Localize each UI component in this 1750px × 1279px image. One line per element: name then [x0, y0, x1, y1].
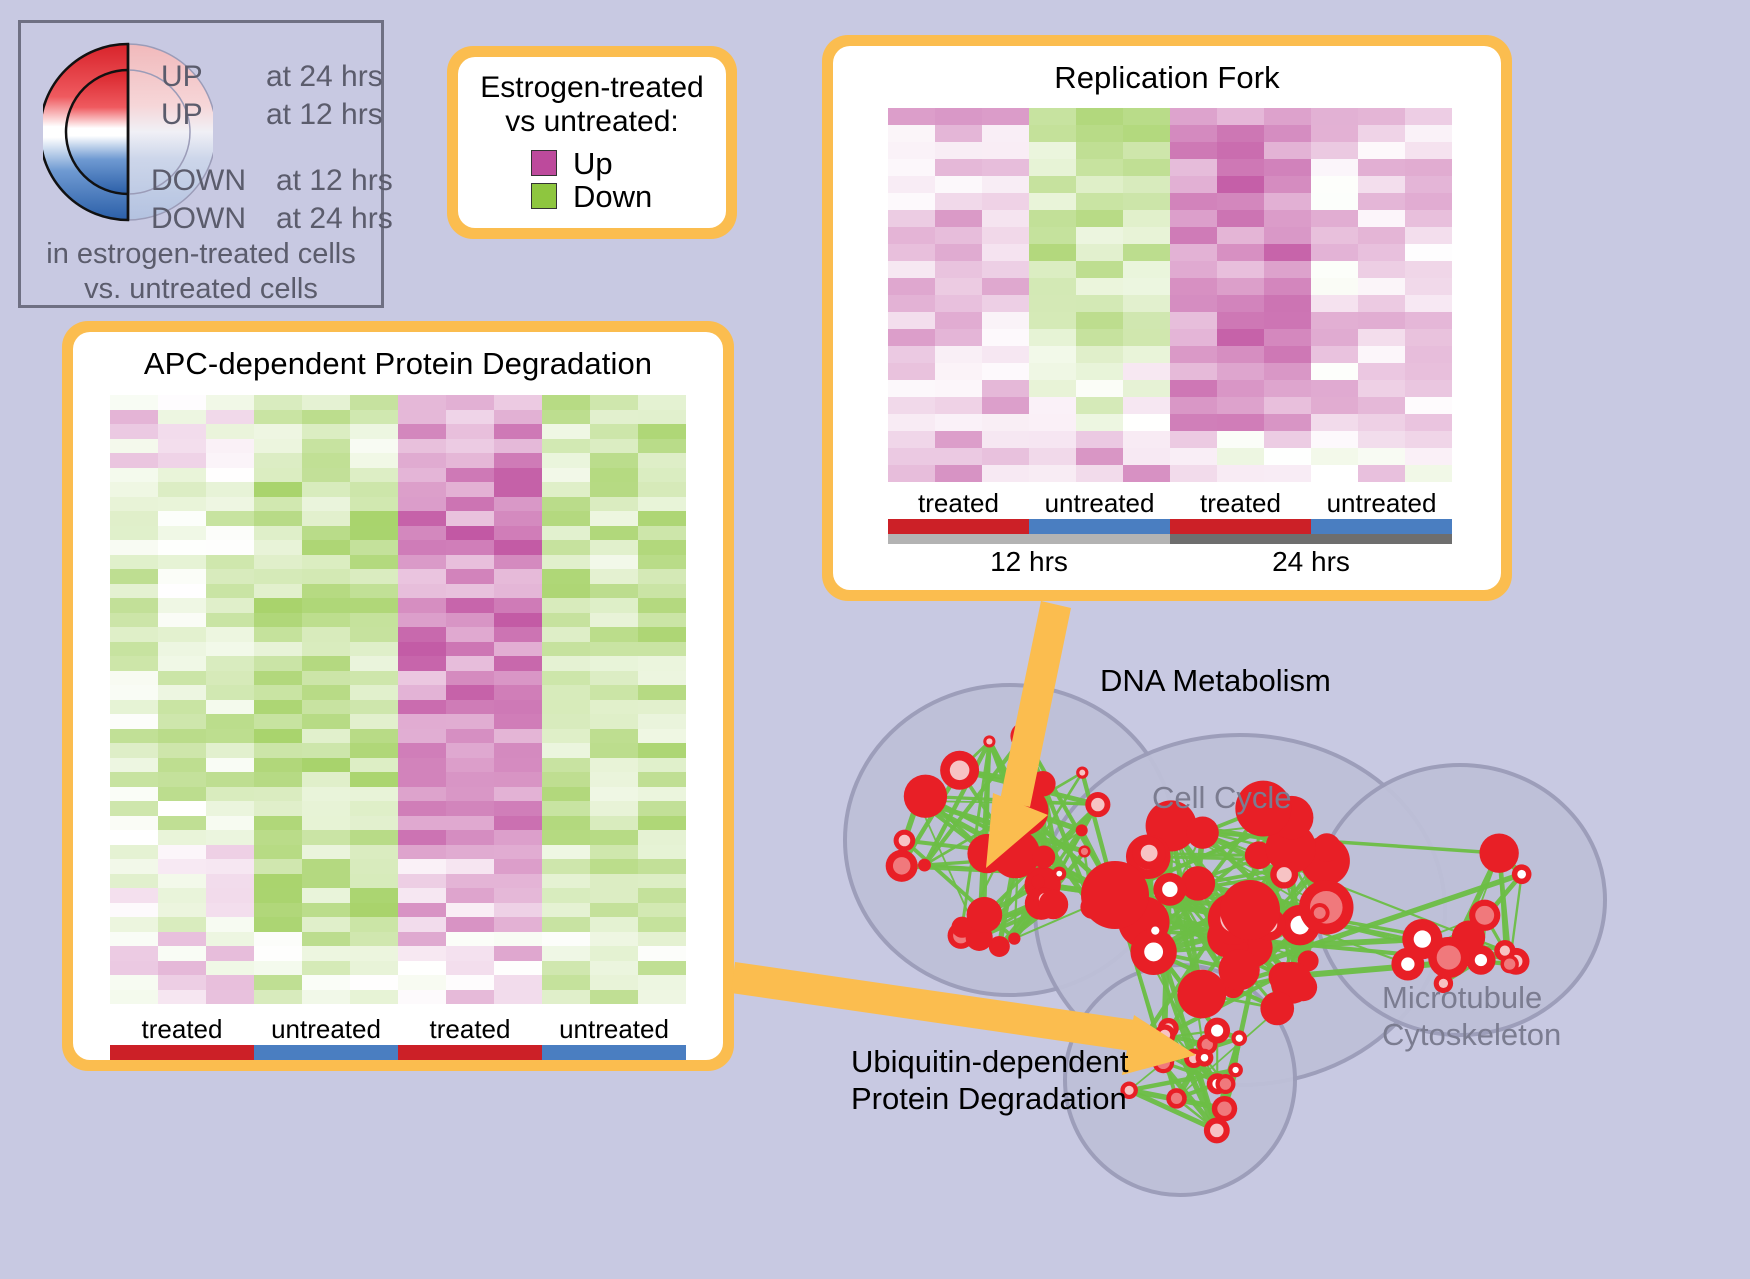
heatmap-cell [110, 700, 158, 715]
heatmap-cell [110, 787, 158, 802]
heatmap-cell [398, 526, 446, 541]
heatmap-cell [935, 312, 982, 329]
heatmap-cell [1358, 125, 1405, 142]
heatmap-cell [446, 903, 494, 918]
cluster-label-ubiquitin-degradation: Ubiquitin-dependent Protein Degradation [851, 1043, 1129, 1117]
heatmap-cell [206, 946, 254, 961]
heatmap-cell [446, 729, 494, 744]
heatmap-cell [638, 830, 686, 845]
heatmap-cell [1264, 363, 1311, 380]
heatmap-cell [494, 874, 542, 889]
heatmap-cell [1076, 108, 1123, 125]
heatmap-cell [350, 903, 398, 918]
heatmap-cell [590, 598, 638, 613]
heatmap-cell [638, 584, 686, 599]
heatmap-cell [542, 961, 590, 976]
heatmap-cell [158, 453, 206, 468]
heatmap-cell [494, 917, 542, 932]
heatmap-cell [1029, 193, 1076, 210]
heatmap-cell [590, 468, 638, 483]
heatmap-cell [110, 555, 158, 570]
heatmap-cell [590, 729, 638, 744]
heatmap-cell [935, 363, 982, 380]
heatmap-cell [398, 772, 446, 787]
heatmap-cell [158, 555, 206, 570]
heatmap-cell [542, 482, 590, 497]
color-wheel-legend: UP at 24 hrs UP at 12 hrs DOWN at 12 hrs… [18, 20, 384, 308]
heatmap-cell [302, 685, 350, 700]
heatmap-cell [158, 613, 206, 628]
heatmap-cell [638, 801, 686, 816]
heatmap-cell [254, 410, 302, 425]
network-node [1181, 866, 1216, 901]
heatmap-cell [398, 990, 446, 1005]
heatmap-cell [1264, 380, 1311, 397]
network-node [1076, 824, 1088, 836]
heatmap-cell [398, 874, 446, 889]
heatmap-cell [638, 903, 686, 918]
heatmap-cell [206, 772, 254, 787]
heatmap-cell [1311, 159, 1358, 176]
heatmap-cell [254, 700, 302, 715]
heatmap-cell [542, 772, 590, 787]
heatmap-cell [638, 758, 686, 773]
heatmap-row [110, 758, 686, 773]
heatmap-cell [1405, 329, 1452, 346]
heatmap-cell [982, 261, 1029, 278]
heatmap-cell [638, 932, 686, 947]
heatmap-cell [1264, 193, 1311, 210]
heatmap-cell [590, 888, 638, 903]
heatmap-cell [206, 511, 254, 526]
heatmap-cell [638, 424, 686, 439]
heatmap-cell [110, 714, 158, 729]
heatmap-row [110, 642, 686, 657]
heatmap-cell [206, 874, 254, 889]
heatmap-cell [302, 627, 350, 642]
heatmap-cell [494, 714, 542, 729]
heatmap-cell [494, 439, 542, 454]
heatmap-cell [982, 278, 1029, 295]
heatmap-cell [350, 671, 398, 686]
heatmap-cell [1170, 431, 1217, 448]
heatmap-cell [638, 511, 686, 526]
heatmap-cell [110, 772, 158, 787]
heatmap-cell [590, 961, 638, 976]
heatmap-cell [542, 569, 590, 584]
heatmap-cell [982, 448, 1029, 465]
heatmap-cell [254, 816, 302, 831]
heatmap-cell [110, 468, 158, 483]
heatmap-cell [302, 932, 350, 947]
heatmap-cell [1264, 295, 1311, 312]
heatmap-cell [158, 700, 206, 715]
heatmap-cell [398, 975, 446, 990]
heatmap-cell [1311, 380, 1358, 397]
heatmap-cell [110, 946, 158, 961]
heatmap-cell [254, 772, 302, 787]
heatmap-cell [982, 210, 1029, 227]
heatmap-row [888, 261, 1452, 278]
heatmap-cell [982, 363, 1029, 380]
heatmap-row [110, 830, 686, 845]
legend-title-line2: vs untreated: [458, 105, 726, 139]
heatmap-cell [398, 482, 446, 497]
heatmap-cell [302, 758, 350, 773]
updown-legend-panel: Estrogen-treated vs untreated: Up Down [447, 46, 737, 239]
heatmap-cell [254, 917, 302, 932]
heatmap-cell [1264, 125, 1311, 142]
heatmap-row [110, 990, 686, 1005]
heatmap-cell [1029, 125, 1076, 142]
heatmap-cell [350, 787, 398, 802]
heatmap-cell [446, 801, 494, 816]
heatmap-cell [110, 816, 158, 831]
heatmap-cell [542, 627, 590, 642]
heatmap-cell [638, 685, 686, 700]
heatmap-cell [1264, 261, 1311, 278]
heatmap-cell [1311, 108, 1358, 125]
heatmap-cell [350, 656, 398, 671]
heatmap-cell [1358, 346, 1405, 363]
heatmap-cell [446, 395, 494, 410]
heatmap-cell [398, 685, 446, 700]
heatmap-cell [542, 497, 590, 512]
network-node [1479, 833, 1518, 872]
heatmap-cell [542, 526, 590, 541]
heatmap-cell [1076, 176, 1123, 193]
heatmap-cell [206, 816, 254, 831]
heatmap-cell [982, 329, 1029, 346]
heatmap-cell [494, 642, 542, 657]
wheel-label-down-12: DOWN [151, 164, 246, 198]
heatmap-cell [110, 439, 158, 454]
heatmap-cell [590, 758, 638, 773]
heatmap-cell [446, 424, 494, 439]
heatmap-cell [302, 584, 350, 599]
heatmap-row [888, 193, 1452, 210]
network-node-core [1151, 927, 1159, 935]
heatmap-cell [590, 685, 638, 700]
heatmap-cell [446, 613, 494, 628]
heatmap-cell [935, 227, 982, 244]
wheel-caption-line1: in estrogen-treated cells [21, 237, 381, 272]
heatmap-cell [158, 859, 206, 874]
wheel-time-up-24: at 24 hrs [266, 60, 383, 94]
heatmap-cell [1029, 448, 1076, 465]
network-node [904, 775, 947, 818]
network-node-core [893, 857, 910, 874]
network-node-core [1162, 882, 1177, 897]
heatmap-cell [494, 671, 542, 686]
heatmap-cell [590, 874, 638, 889]
heatmap-cell [638, 482, 686, 497]
heatmap-cell [158, 874, 206, 889]
heatmap-cell [398, 627, 446, 642]
heatmap-cell [302, 946, 350, 961]
heatmap-cell [302, 888, 350, 903]
heatmap-cell [446, 685, 494, 700]
heatmap-cell [158, 598, 206, 613]
heatmap-cell [206, 961, 254, 976]
heatmap-cell [590, 903, 638, 918]
heatmap-cell [1405, 125, 1452, 142]
heatmap-row [110, 627, 686, 642]
heatmap-cell [302, 439, 350, 454]
heatmap-cell [1170, 278, 1217, 295]
heatmap-cell [254, 801, 302, 816]
heatmap-cell [110, 540, 158, 555]
heatmap-cell [446, 671, 494, 686]
heatmap-cell [350, 453, 398, 468]
heatmap-cell [446, 584, 494, 599]
network-node-core [1081, 848, 1088, 855]
heatmap-cell [1076, 346, 1123, 363]
heatmap-cell [1358, 329, 1405, 346]
heatmap-cell [254, 903, 302, 918]
heatmap-cell [1217, 397, 1264, 414]
replication-fork-group-labels: treateduntreatedtreateduntreated [888, 488, 1452, 519]
heatmap-cell [1170, 125, 1217, 142]
group-color-bar [888, 519, 1029, 534]
heatmap-cell [935, 397, 982, 414]
heatmap-cell [446, 975, 494, 990]
heatmap-cell [158, 642, 206, 657]
heatmap-cell [254, 569, 302, 584]
heatmap-cell [935, 329, 982, 346]
heatmap-cell [494, 990, 542, 1005]
heatmap-cell [494, 627, 542, 642]
heatmap-cell [1264, 278, 1311, 295]
heatmap-cell [206, 743, 254, 758]
wheel-time-down-12: at 12 hrs [276, 164, 393, 198]
heatmap-cell [206, 468, 254, 483]
heatmap-cell [302, 700, 350, 715]
heatmap-cell [1076, 278, 1123, 295]
heatmap-cell [888, 142, 935, 159]
heatmap-cell [590, 482, 638, 497]
group-label: treated [888, 488, 1029, 519]
heatmap-cell [1311, 278, 1358, 295]
heatmap-row [888, 346, 1452, 363]
heatmap-cell [1311, 244, 1358, 261]
heatmap-cell [1217, 465, 1264, 482]
heatmap-cell [254, 787, 302, 802]
heatmap-cell [350, 497, 398, 512]
apc-axis: treateduntreatedtreateduntreated 12 hrs2… [110, 1014, 686, 1060]
heatmap-cell [206, 540, 254, 555]
heatmap-cell [1029, 346, 1076, 363]
heatmap-cell [110, 830, 158, 845]
heatmap-cell [1217, 108, 1264, 125]
heatmap-cell [1311, 210, 1358, 227]
heatmap-cell [590, 917, 638, 932]
heatmap-cell [446, 410, 494, 425]
heatmap-cell [542, 468, 590, 483]
cluster-label-ubiquitin-line2: Protein Degradation [851, 1080, 1129, 1117]
heatmap-row [110, 569, 686, 584]
heatmap-cell [888, 159, 935, 176]
heatmap-row [110, 671, 686, 686]
heatmap-cell [1029, 176, 1076, 193]
heatmap-cell [446, 468, 494, 483]
heatmap-cell [1217, 295, 1264, 312]
heatmap-cell [206, 975, 254, 990]
heatmap-cell [494, 497, 542, 512]
heatmap-cell [302, 787, 350, 802]
heatmap-cell [1123, 329, 1170, 346]
heatmap-cell [110, 526, 158, 541]
cluster-label-cell-cycle: Cell Cycle [1152, 780, 1292, 816]
legend-items: Up Down [458, 148, 726, 212]
heatmap-cell [446, 946, 494, 961]
heatmap-cell [206, 932, 254, 947]
network-node [1177, 970, 1226, 1019]
heatmap-cell [494, 729, 542, 744]
heatmap-row [110, 526, 686, 541]
heatmap-row [888, 312, 1452, 329]
heatmap-cell [494, 656, 542, 671]
network-node-core [1210, 1124, 1224, 1138]
heatmap-cell [1264, 210, 1311, 227]
heatmap-cell [888, 363, 935, 380]
heatmap-cell [1217, 312, 1264, 329]
heatmap-cell [446, 497, 494, 512]
heatmap-row [110, 685, 686, 700]
heatmap-cell [398, 642, 446, 657]
heatmap-cell [158, 569, 206, 584]
heatmap-cell [1029, 278, 1076, 295]
replication-fork-panel: Replication Fork treateduntreatedtreated… [822, 35, 1512, 601]
heatmap-cell [1264, 329, 1311, 346]
heatmap-row [110, 975, 686, 990]
heatmap-cell [590, 569, 638, 584]
heatmap-cell [638, 700, 686, 715]
heatmap-row [110, 598, 686, 613]
heatmap-cell [158, 932, 206, 947]
heatmap-cell [888, 295, 935, 312]
network-node-core [1201, 1054, 1209, 1062]
heatmap-cell [1170, 210, 1217, 227]
heatmap-cell [982, 142, 1029, 159]
heatmap-cell [1123, 312, 1170, 329]
heatmap-cell [1170, 329, 1217, 346]
heatmap-cell [254, 584, 302, 599]
network-node-core [1159, 1030, 1170, 1041]
heatmap-cell [494, 859, 542, 874]
heatmap-row [888, 414, 1452, 431]
heatmap-cell [446, 845, 494, 860]
heatmap-row [888, 431, 1452, 448]
heatmap-cell [590, 743, 638, 758]
heatmap-cell [1358, 312, 1405, 329]
heatmap-cell [398, 845, 446, 860]
heatmap-cell [1123, 227, 1170, 244]
heatmap-cell [446, 511, 494, 526]
heatmap-cell [494, 685, 542, 700]
network-node-core [986, 738, 992, 744]
heatmap-cell [350, 424, 398, 439]
cluster-label-microtubule-cytoskeleton: Microtubule Cytoskeleton [1382, 979, 1561, 1053]
heatmap-cell [1358, 142, 1405, 159]
heatmap-cell [350, 729, 398, 744]
heatmap-cell [1123, 363, 1170, 380]
heatmap-cell [254, 424, 302, 439]
heatmap-cell [1217, 142, 1264, 159]
heatmap-cell [542, 656, 590, 671]
heatmap-cell [888, 210, 935, 227]
network-node [1219, 949, 1260, 990]
heatmap-cell [1358, 397, 1405, 414]
group-label: untreated [542, 1014, 686, 1045]
network-node [1081, 861, 1149, 929]
heatmap-cell [982, 227, 1029, 244]
heatmap-cell [590, 816, 638, 831]
heatmap-cell [398, 743, 446, 758]
heatmap-row [888, 227, 1452, 244]
heatmap-cell [398, 468, 446, 483]
heatmap-cell [888, 414, 935, 431]
replication-fork-group-bars [888, 519, 1452, 534]
heatmap-cell [446, 482, 494, 497]
heatmap-cell [494, 700, 542, 715]
heatmap-cell [494, 888, 542, 903]
heatmap-cell [206, 729, 254, 744]
heatmap-cell [1405, 397, 1452, 414]
heatmap-cell [982, 159, 1029, 176]
heatmap-cell [542, 990, 590, 1005]
heatmap-cell [446, 555, 494, 570]
heatmap-cell [398, 946, 446, 961]
cluster-label-ubiquitin-line1: Ubiquitin-dependent [851, 1043, 1129, 1080]
heatmap-cell [446, 961, 494, 976]
heatmap-row [110, 801, 686, 816]
wheel-label-up-24: UP [161, 60, 203, 94]
heatmap-cell [494, 932, 542, 947]
network-node [1032, 846, 1055, 869]
heatmap-cell [110, 395, 158, 410]
heatmap-cell [158, 946, 206, 961]
heatmap-cell [888, 193, 935, 210]
heatmap-cell [446, 874, 494, 889]
heatmap-cell [254, 685, 302, 700]
heatmap-cell [110, 671, 158, 686]
heatmap-cell [1076, 431, 1123, 448]
heatmap-cell [1405, 142, 1452, 159]
heatmap-cell [110, 656, 158, 671]
time-label: 24 hrs [1170, 546, 1452, 578]
heatmap-cell [590, 439, 638, 454]
time-color-bar [888, 534, 1170, 544]
heatmap-cell [110, 758, 158, 773]
group-color-bar [110, 1045, 254, 1060]
heatmap-cell [542, 555, 590, 570]
heatmap-cell [206, 598, 254, 613]
heatmap-cell [1405, 414, 1452, 431]
heatmap-cell [1358, 448, 1405, 465]
heatmap-cell [110, 569, 158, 584]
heatmap-cell [1358, 465, 1405, 482]
heatmap-cell [1123, 125, 1170, 142]
heatmap-cell [1358, 431, 1405, 448]
heatmap-cell [542, 917, 590, 932]
heatmap-cell [1311, 448, 1358, 465]
heatmap-row [110, 888, 686, 903]
heatmap-cell [206, 642, 254, 657]
heatmap-cell [302, 540, 350, 555]
heatmap-cell [638, 453, 686, 468]
heatmap-cell [1170, 244, 1217, 261]
